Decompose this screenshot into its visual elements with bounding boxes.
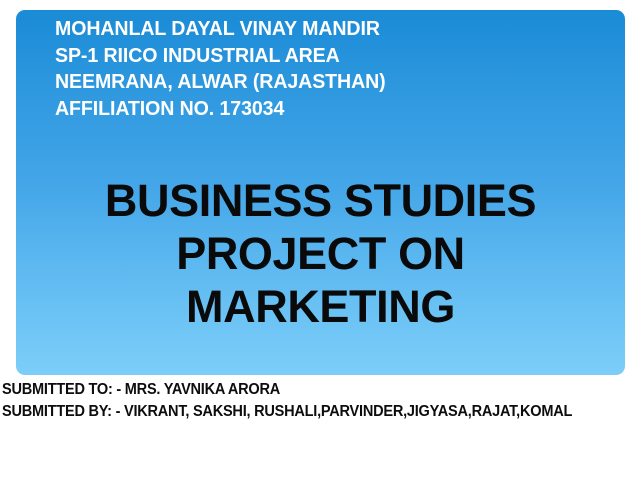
submitted-to-line: SUBMITTED TO: - MRS. YAVNIKA ARORA bbox=[2, 379, 605, 401]
school-header: MOHANLAL DAYAL VINAY MANDIR SP-1 RIICO I… bbox=[55, 16, 595, 122]
cover-gradient-panel: MOHANLAL DAYAL VINAY MANDIR SP-1 RIICO I… bbox=[16, 10, 625, 375]
school-address-line-2: NEEMRANA, ALWAR (RAJASTHAN) bbox=[55, 69, 571, 96]
school-address-line-1: SP-1 RIICO INDUSTRIAL AREA bbox=[55, 43, 571, 70]
project-title: BUSINESS STUDIES PROJECT ON MARKETING bbox=[16, 174, 625, 333]
school-name-line: MOHANLAL DAYAL VINAY MANDIR bbox=[55, 16, 571, 43]
project-title-line-2: PROJECT ON bbox=[16, 227, 625, 280]
project-title-line-1: BUSINESS STUDIES bbox=[16, 174, 625, 227]
school-affiliation-number: AFFILIATION NO. 173034 bbox=[55, 96, 571, 123]
submission-credits: SUBMITTED TO: - MRS. YAVNIKA ARORA SUBMI… bbox=[2, 379, 640, 422]
presentation-slide: MOHANLAL DAYAL VINAY MANDIR SP-1 RIICO I… bbox=[0, 0, 640, 480]
project-title-line-3: MARKETING bbox=[16, 280, 625, 333]
submitted-by-line: SUBMITTED BY: - VIKRANT, SAKSHI, RUSHALI… bbox=[2, 401, 605, 423]
